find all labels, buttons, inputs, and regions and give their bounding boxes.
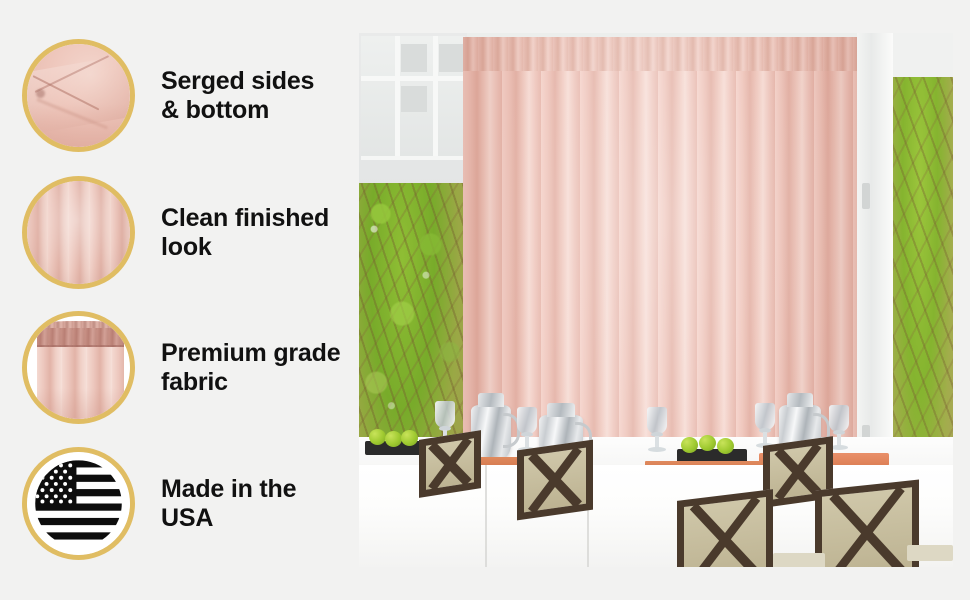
banquet-chair (815, 480, 919, 567)
green-apple (369, 429, 386, 445)
feature-label: Clean finished look (161, 204, 329, 262)
feature-item-made-in-the-usa: Made in the USA (22, 446, 342, 561)
feature-item-serged-sides: Serged sides & bottom (22, 38, 342, 153)
window-left (361, 36, 465, 160)
pleated-fabric-icon (22, 176, 135, 289)
green-apple (681, 437, 698, 453)
green-apple (699, 435, 716, 451)
crystal-goblet (647, 407, 667, 453)
feature-label: Premium grade fabric (161, 339, 340, 397)
crystal-goblet (517, 407, 537, 453)
feature-item-clean-finished-look: Clean finished look (22, 175, 342, 290)
product-photo (359, 33, 953, 567)
banquet-chair (517, 440, 593, 521)
feature-item-premium-grade-fabric: Premium grade fabric (22, 310, 342, 425)
green-apple (401, 430, 418, 446)
green-apple (717, 438, 734, 454)
banquet-chair (677, 489, 773, 567)
usa-flag-icon (22, 447, 135, 560)
curtain-panel-icon (22, 311, 135, 424)
banquet-chair (419, 430, 481, 498)
folded-fabric-icon (22, 39, 135, 152)
chair-seat (907, 545, 953, 561)
feature-label: Made in the USA (161, 475, 296, 533)
feature-label: Serged sides & bottom (161, 67, 314, 125)
chair-seat (773, 553, 825, 567)
crystal-goblet (755, 403, 775, 449)
green-apple (385, 431, 402, 447)
infographic-page: Serged sides & bottom Clean finished loo… (0, 0, 970, 600)
feature-list: Serged sides & bottom Clean finished loo… (0, 0, 345, 600)
